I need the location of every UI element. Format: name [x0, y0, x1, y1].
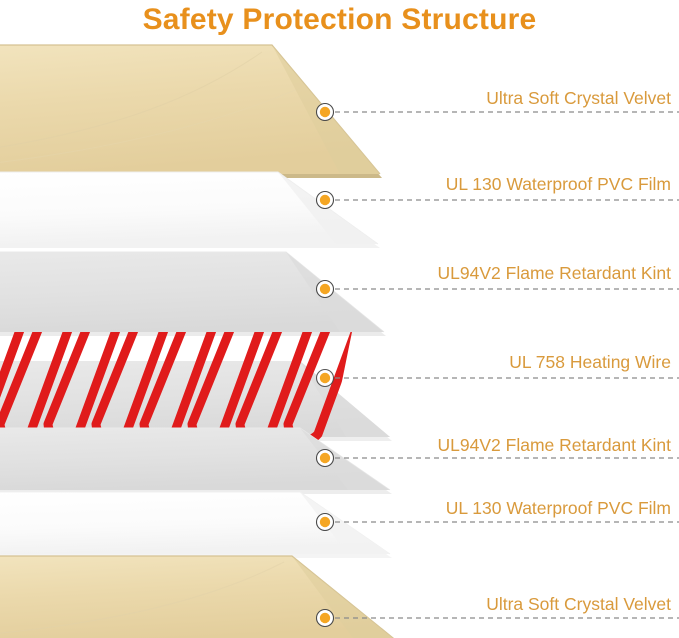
callout-label-pvc-film-bottom: UL 130 Waterproof PVC Film [446, 498, 671, 518]
layer-pvc-film-top [0, 172, 380, 248]
callout-marker-knit-bottom[interactable] [317, 450, 334, 467]
layer-velvet-bottom [0, 556, 400, 638]
callout-marker-heating-wire[interactable] [317, 370, 334, 387]
callout-marker-velvet-top[interactable] [317, 104, 334, 121]
callout-label-knit-bottom: UL94V2 Flame Retardant Kint [438, 435, 671, 455]
callout-label-velvet-top: Ultra Soft Crystal Velvet [486, 88, 671, 108]
callout-marker-pvc-film-bottom[interactable] [317, 514, 334, 531]
callout-marker-knit-top[interactable] [317, 281, 334, 298]
callout-label-pvc-film-top: UL 130 Waterproof PVC Film [446, 174, 671, 194]
callout-marker-velvet-bottom[interactable] [317, 610, 334, 627]
safety-protection-structure-diagram: Safety Protection Structure [0, 0, 679, 638]
callout-label-heating-wire: UL 758 Heating Wire [509, 352, 671, 372]
callout-label-knit-top: UL94V2 Flame Retardant Kint [438, 263, 671, 283]
callout-label-velvet-bottom: Ultra Soft Crystal Velvet [486, 594, 671, 614]
callout-marker-pvc-film-top[interactable] [317, 192, 334, 209]
